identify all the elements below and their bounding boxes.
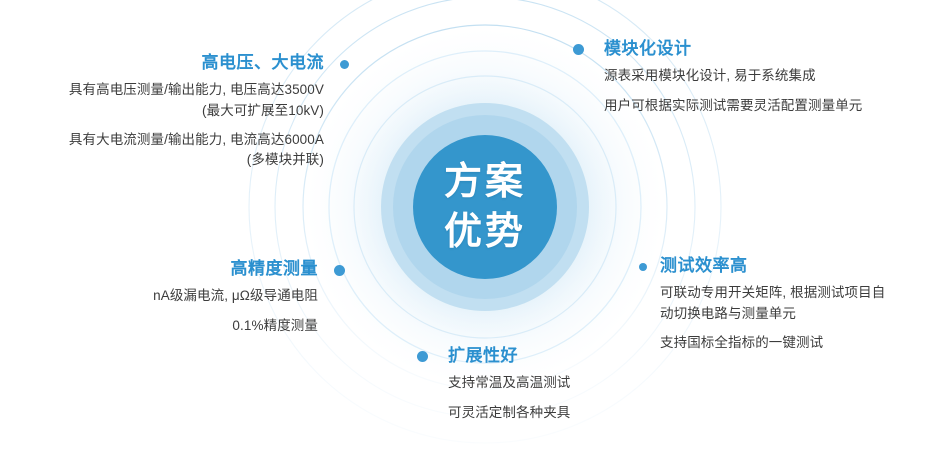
feature-modular-design: 模块化设计 源表采用模块化设计, 易于系统集成 用户可根据实际测试需要灵活配置测… (604, 38, 948, 116)
bullet-dot-icon (334, 265, 345, 276)
feature-expandability: 扩展性好 支持常温及高温测试 可灵活定制各种夹具 (448, 345, 708, 423)
feature-body-line: 支持常温及高温测试 (448, 373, 708, 393)
feature-body-line: 0.1%精度测量 (0, 316, 318, 336)
feature-body: 可联动专用开关矩阵, 根据测试项目自 动切换电路与测量单元 支持国标全指标的一键… (660, 283, 948, 353)
center-title: 方案 优势 (410, 157, 560, 257)
bullet-dot-icon (639, 263, 647, 271)
feature-body: 源表采用模块化设计, 易于系统集成 用户可根据实际测试需要灵活配置测量单元 (604, 66, 948, 116)
feature-body-line: 具有高电压测量/输出能力, 电压高达3500V (最大可扩展至10kV) (0, 80, 324, 121)
feature-test-efficiency: 测试效率高 可联动专用开关矩阵, 根据测试项目自 动切换电路与测量单元 支持国标… (660, 255, 948, 353)
bullet-dot-icon (340, 60, 349, 69)
feature-high-voltage-current: 高电压、大电流 具有高电压测量/输出能力, 电压高达3500V (最大可扩展至1… (0, 52, 324, 170)
feature-body-line: 源表采用模块化设计, 易于系统集成 (604, 66, 948, 86)
feature-heading: 模块化设计 (604, 38, 948, 59)
bullet-dot-icon (417, 351, 428, 362)
feature-heading: 高电压、大电流 (0, 52, 324, 73)
feature-body-line: nA级漏电流, μΩ级导通电阻 (0, 286, 318, 306)
feature-body-line: 用户可根据实际测试需要灵活配置测量单元 (604, 96, 948, 116)
feature-body: 支持常温及高温测试 可灵活定制各种夹具 (448, 373, 708, 423)
feature-body-line: 可灵活定制各种夹具 (448, 403, 708, 423)
feature-body-line: 具有大电流测量/输出能力, 电流高达6000A (多模块并联) (0, 130, 324, 171)
feature-body-line: 可联动专用开关矩阵, 根据测试项目自 动切换电路与测量单元 (660, 283, 948, 324)
feature-body: 具有高电压测量/输出能力, 电压高达3500V (最大可扩展至10kV) 具有大… (0, 80, 324, 170)
bullet-dot-icon (573, 44, 584, 55)
feature-heading: 高精度测量 (0, 258, 318, 279)
infographic-canvas: 方案 优势 高电压、大电流 具有高电压测量/输出能力, 电压高达3500V (最… (0, 0, 948, 467)
feature-body: nA级漏电流, μΩ级导通电阻 0.1%精度测量 (0, 286, 318, 336)
feature-high-accuracy: 高精度测量 nA级漏电流, μΩ级导通电阻 0.1%精度测量 (0, 258, 318, 336)
feature-heading: 扩展性好 (448, 345, 708, 366)
feature-heading: 测试效率高 (660, 255, 948, 276)
